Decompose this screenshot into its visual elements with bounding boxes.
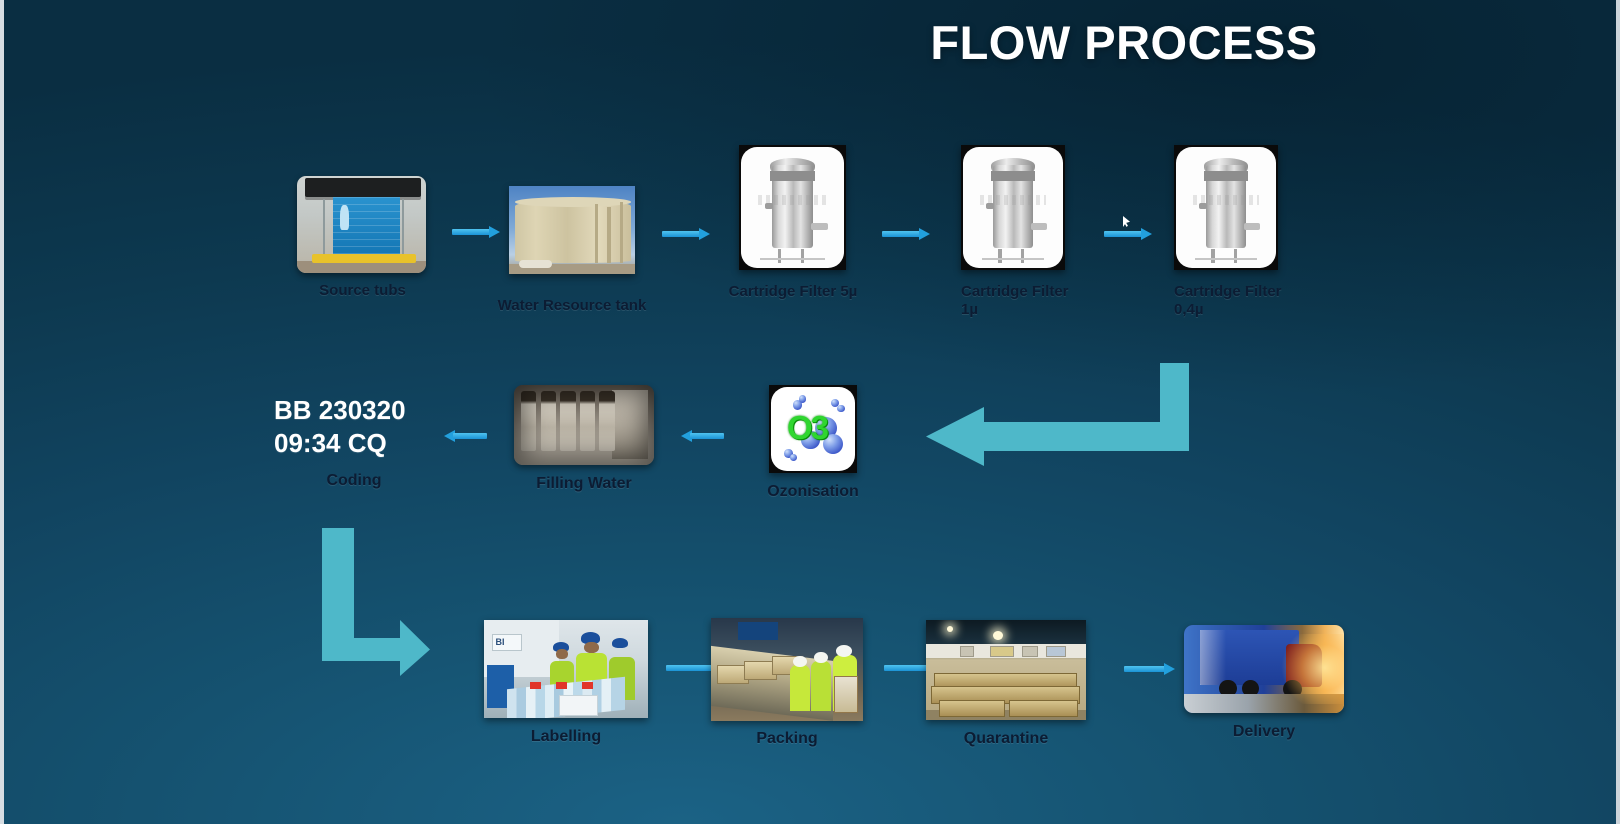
ozonisation-label: Ozonisation xyxy=(743,483,883,502)
node-cartridge-filter-04u[interactable]: Cartridge Filter 0,4µ xyxy=(1174,145,1278,270)
cartridge-filter-5u-label: Cartridge Filter 5µ xyxy=(712,283,874,301)
delivery-label: Delivery xyxy=(1180,723,1348,742)
cartridge-filter-1u-label-line2: 1µ xyxy=(961,301,978,318)
arrow-filter1-to-filter04 xyxy=(1104,228,1152,240)
flow-process-slide: FLOW PROCESS Source tubs xyxy=(0,0,1620,824)
filling-water-label: Filling Water xyxy=(498,475,670,494)
cartridge-filter-icon xyxy=(961,145,1065,270)
node-cartridge-filter-5u[interactable]: Cartridge Filter 5µ xyxy=(739,145,846,270)
labelling-photo: BI xyxy=(484,620,648,718)
arrow-ozonisation-to-filling xyxy=(681,430,725,442)
coding-code-line2: 09:34 CQ xyxy=(274,428,387,458)
cartridge-filter-04u-label: Cartridge Filter 0,4µ xyxy=(1150,283,1344,318)
labelling-label: Labelling xyxy=(482,728,650,747)
page-title: FLOW PROCESS xyxy=(909,15,1339,70)
node-source-tubs[interactable]: Source tubs xyxy=(297,176,426,273)
node-cartridge-filter-1u[interactable]: Cartridge Filter 1µ xyxy=(961,145,1065,270)
node-packing[interactable]: Packing xyxy=(711,618,863,721)
coding-code-line1: BB 230320 xyxy=(274,395,406,425)
arrow-source-to-tank xyxy=(452,226,500,238)
cartridge-filter-icon xyxy=(1174,145,1278,270)
quarantine-photo xyxy=(926,620,1086,720)
cartridge-filter-1u-label-line1: Cartridge Filter xyxy=(961,283,1069,300)
arrow-filter5-to-filter1 xyxy=(882,228,930,240)
coding-label: Coding xyxy=(274,472,434,491)
mouse-cursor-icon xyxy=(1123,216,1130,227)
node-ozonisation[interactable]: O3 Ozonisation xyxy=(769,385,857,473)
arrow-filling-to-coding xyxy=(444,430,488,442)
node-water-resource-tank[interactable]: Water Resource tank xyxy=(509,186,635,274)
packing-photo xyxy=(711,618,863,721)
filling-water-photo xyxy=(514,385,654,465)
cartridge-filter-icon xyxy=(739,145,846,270)
water-tank-photo xyxy=(509,186,635,274)
coding-batch-code: BB 230320 09:34 CQ xyxy=(274,394,434,461)
quarantine-label: Quarantine xyxy=(920,730,1092,749)
cartridge-filter-04u-label-line1: Cartridge Filter xyxy=(1174,283,1282,300)
arrow-tank-to-filter5 xyxy=(662,228,710,240)
cartridge-filter-04u-label-line2: 0,4µ xyxy=(1174,301,1204,318)
node-labelling[interactable]: BI Labelling xyxy=(484,620,648,718)
elbow-arrow-filter04-to-ozonisation xyxy=(924,363,1189,468)
source-tubs-photo xyxy=(297,176,426,273)
source-tubs-label: Source tubs xyxy=(295,282,430,300)
delivery-photo xyxy=(1184,625,1344,713)
node-filling-water[interactable]: Filling Water xyxy=(514,385,654,465)
node-quarantine[interactable]: Quarantine xyxy=(926,620,1086,720)
packing-label: Packing xyxy=(705,730,869,749)
node-delivery[interactable]: Delivery xyxy=(1184,625,1344,713)
cartridge-filter-1u-label: Cartridge Filter 1µ xyxy=(937,283,1121,318)
arrow-quarantine-to-delivery xyxy=(1124,663,1176,675)
elbow-arrow-coding-to-labelling xyxy=(322,528,432,676)
labelling-sign-text: BI xyxy=(495,637,504,647)
ozone-badge: O3 xyxy=(787,409,827,447)
ozone-molecule-icon: O3 xyxy=(769,385,857,473)
water-tank-label: Water Resource tank xyxy=(481,297,663,315)
